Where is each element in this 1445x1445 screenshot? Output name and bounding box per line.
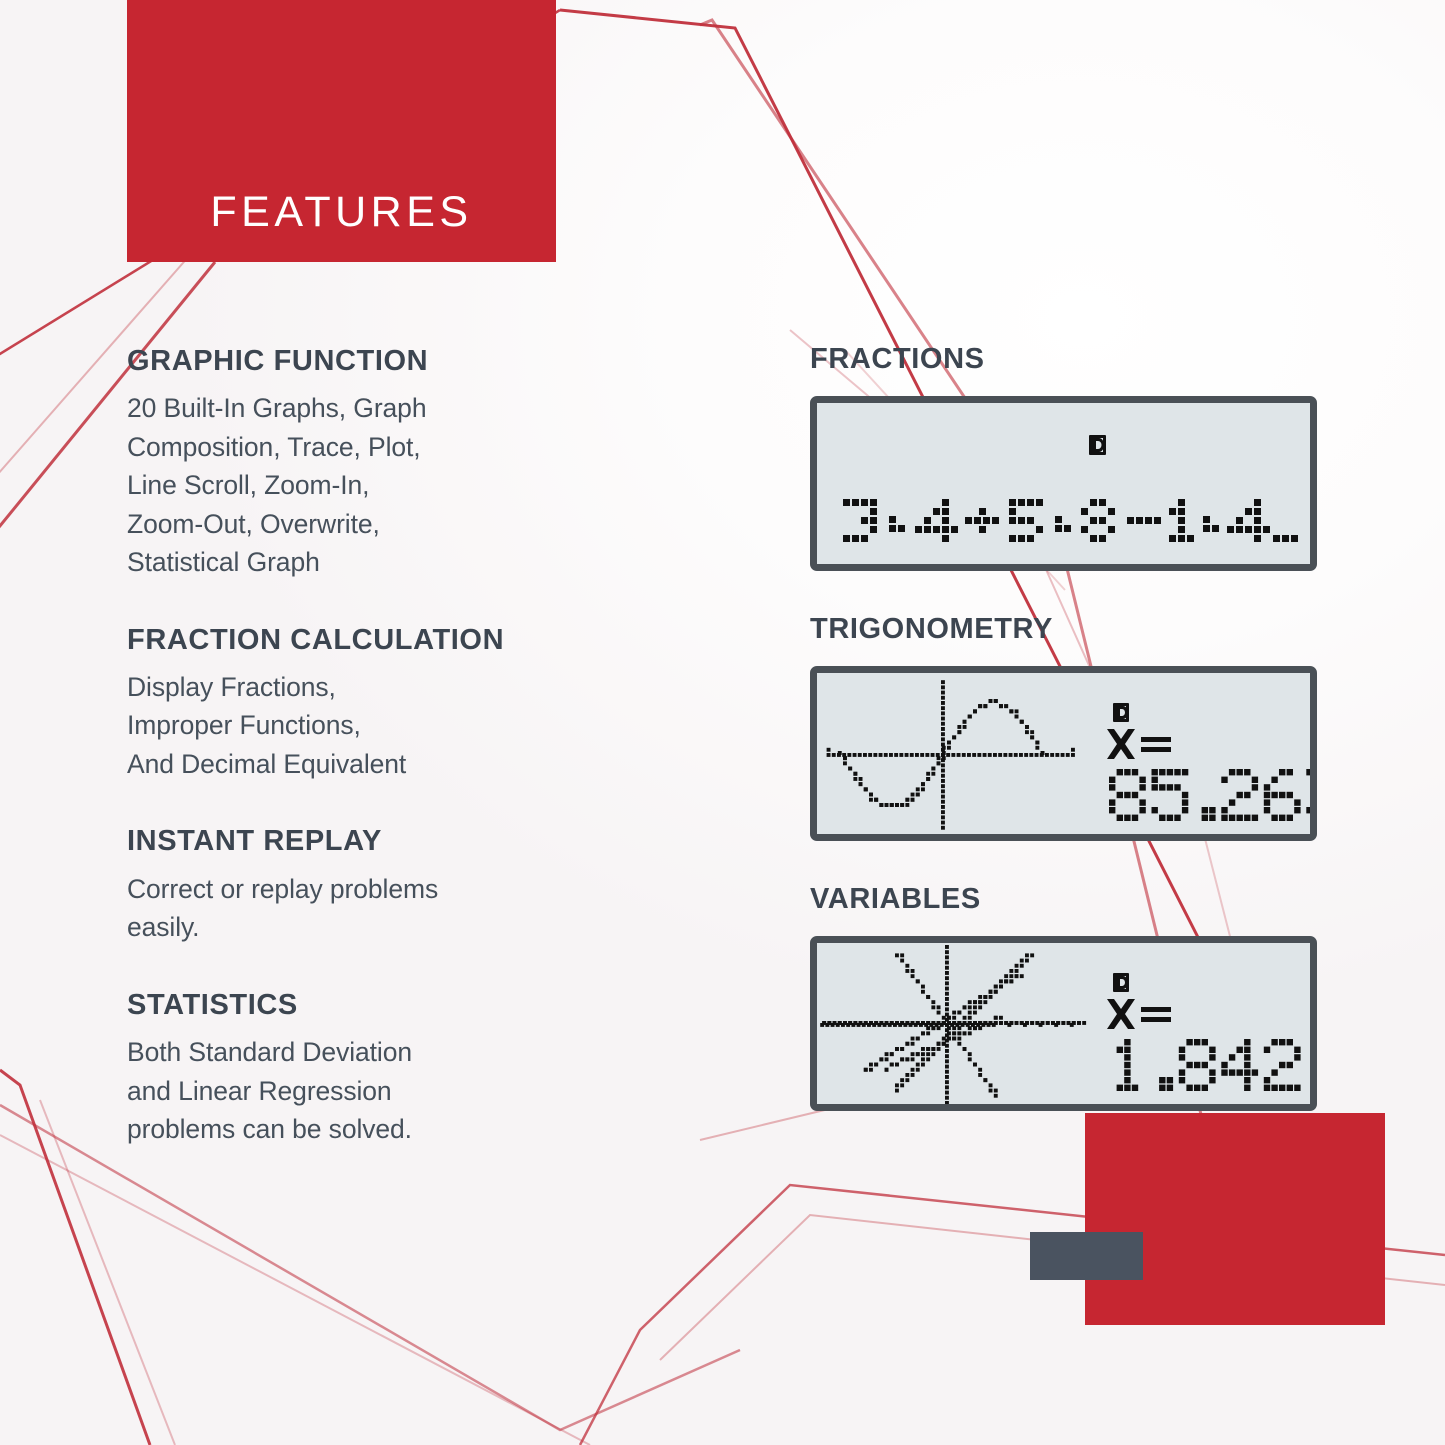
- feature-title: GRAPHIC FUNCTION: [127, 345, 727, 377]
- feature-statistics: STATISTICS Both Standard Deviation and L…: [127, 989, 727, 1149]
- screen-block-fractions: FRACTIONS: [810, 345, 1330, 571]
- lcd-canvas-variables: [817, 943, 1310, 1104]
- mode-indicator-d-icon: [1089, 435, 1106, 455]
- screens-right-column: FRACTIONS: [810, 345, 1330, 1155]
- lcd-canvas-fractions: [817, 403, 1310, 564]
- mode-indicator-d-icon: [1113, 973, 1129, 992]
- feature-title: FRACTION CALCULATION: [127, 624, 727, 656]
- screen-block-trigonometry: TRIGONOMETRY: [810, 615, 1330, 841]
- x-prompt-dotmatrix: [1107, 999, 1171, 1029]
- decorative-red-square: [1085, 1113, 1385, 1325]
- feature-graphic-function: GRAPHIC FUNCTION 20 Built-In Graphs, Gra…: [127, 345, 727, 582]
- x-prompt-dotmatrix: [1107, 729, 1171, 759]
- feature-instant-replay: INSTANT REPLAY Correct or replay problem…: [127, 825, 727, 946]
- feature-title: STATISTICS: [127, 989, 727, 1021]
- result-value-dotmatrix: [1109, 769, 1310, 821]
- screen-title: VARIABLES: [810, 885, 1330, 914]
- sine-wave-plot: [827, 680, 1075, 830]
- screen-block-variables: VARIABLES X= 1.842105: [810, 885, 1330, 1111]
- features-left-column: GRAPHIC FUNCTION 20 Built-In Graphs, Gra…: [127, 345, 727, 1190]
- regression-lines-plot: [820, 945, 1086, 1104]
- feature-fraction-calculation: FRACTION CALCULATION Display Fractions, …: [127, 624, 727, 784]
- mode-indicator-d-icon: [1113, 703, 1129, 722]
- calculator-display-fractions: 3⍁4+5⍁8-1⍁4_ D: [810, 396, 1317, 571]
- feature-description: Display Fractions, Improper Functions, A…: [127, 668, 727, 783]
- page-title: FEATURES: [210, 191, 472, 234]
- features-header-badge: FEATURES: [127, 0, 556, 262]
- screen-title: TRIGONOMETRY: [810, 615, 1330, 644]
- calculator-display-variables: X= 1.842105: [810, 936, 1317, 1111]
- decorative-gray-tab: [1030, 1232, 1143, 1280]
- feature-description: Both Standard Deviation and Linear Regre…: [127, 1033, 727, 1148]
- result-value-dotmatrix: [1117, 1039, 1310, 1091]
- feature-description: 20 Built-In Graphs, Graph Composition, T…: [127, 389, 727, 581]
- expression-dotmatrix: [843, 499, 1298, 542]
- calculator-display-trigonometry: X= 85.26315: [810, 666, 1317, 841]
- feature-title: INSTANT REPLAY: [127, 825, 727, 857]
- lcd-canvas-trigonometry: [817, 673, 1310, 834]
- screen-title: FRACTIONS: [810, 345, 1330, 374]
- feature-description: Correct or replay problems easily.: [127, 870, 727, 947]
